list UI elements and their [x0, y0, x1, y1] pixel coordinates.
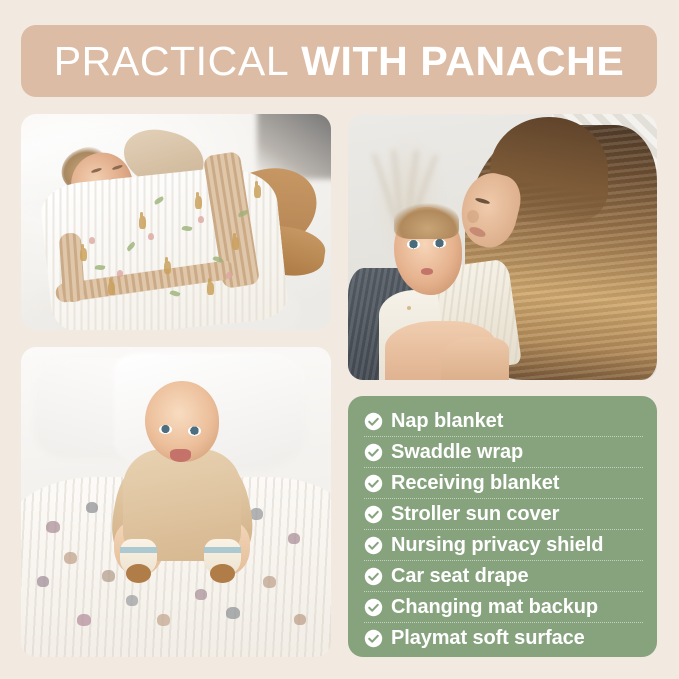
page-title-light: PRACTICAL: [54, 38, 290, 84]
baby-eye: [433, 239, 446, 248]
check-circle-icon: [364, 505, 383, 524]
list-item-label: Nursing privacy shield: [391, 535, 603, 555]
baby-foot: [126, 564, 151, 583]
list-item-label: Nap blanket: [391, 411, 503, 431]
list-item-label: Playmat soft surface: [391, 628, 585, 648]
list-item-label: Receiving blanket: [391, 473, 559, 493]
list-item: Nap blanket: [364, 406, 643, 437]
pink-print-motifs: [21, 114, 331, 330]
header-banner: PRACTICAL WITH PANACHE: [21, 25, 657, 97]
photo-baby-laughing-wrapped-in-giraffe-muslin-blanket: [21, 114, 331, 330]
photo-baby-sitting-on-animal-print-muslin-blanket: [21, 347, 331, 657]
list-item: Receiving blanket: [364, 468, 643, 499]
check-circle-icon: [364, 443, 383, 462]
page-title: PRACTICAL WITH PANACHE: [54, 41, 625, 82]
check-circle-icon: [364, 536, 383, 555]
check-circle-icon: [364, 474, 383, 493]
baby-eye: [407, 240, 420, 249]
list-item: Nursing privacy shield: [364, 530, 643, 561]
list-item: Car seat drape: [364, 561, 643, 592]
page-title-bold: WITH PANACHE: [301, 38, 624, 84]
features-card: Nap blanket Swaddle wrap Receiving blank…: [348, 396, 657, 657]
check-circle-icon: [364, 412, 383, 431]
list-item: Stroller sun cover: [364, 499, 643, 530]
baby-foot: [210, 564, 235, 583]
photo-content: [21, 114, 331, 330]
list-item: Changing mat backup: [364, 592, 643, 623]
baby-mouth: [421, 268, 433, 274]
list-item: Playmat soft surface: [364, 623, 643, 653]
list-item-label: Car seat drape: [391, 566, 529, 586]
check-circle-icon: [364, 629, 383, 648]
photo-mother-kissing-baby-head: [348, 114, 657, 380]
photo-content: [21, 347, 331, 657]
photo-content: [348, 114, 657, 380]
product-infographic-page: PRACTICAL WITH PANACHE: [0, 0, 679, 679]
baby-mouth: [170, 449, 192, 461]
list-item: Swaddle wrap: [364, 437, 643, 468]
check-circle-icon: [364, 567, 383, 586]
list-item-label: Swaddle wrap: [391, 442, 523, 462]
list-item-label: Changing mat backup: [391, 597, 598, 617]
list-item-label: Stroller sun cover: [391, 504, 559, 524]
mother-hand: [441, 337, 509, 380]
features-list: Nap blanket Swaddle wrap Receiving blank…: [364, 406, 643, 653]
baby-hair: [394, 202, 459, 239]
check-circle-icon: [364, 598, 383, 617]
